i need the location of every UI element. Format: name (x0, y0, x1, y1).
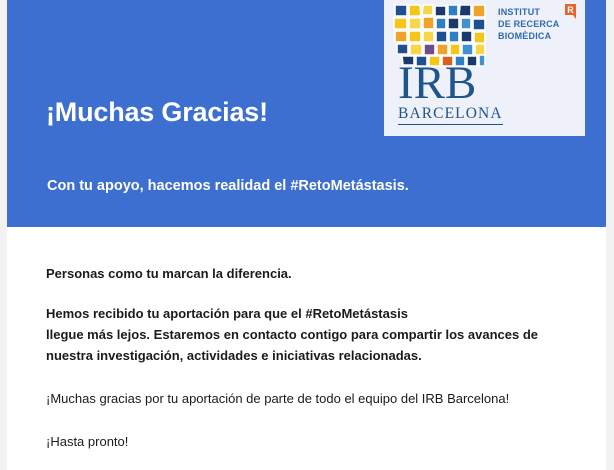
institute-name: INSTITUT DE RECERCA BIOMÈDICA (498, 6, 560, 42)
svg-text:R: R (567, 5, 574, 15)
institute-line-2: DE RECERCA (498, 18, 560, 30)
body-paragraph: llegue más lejos. Estaremos en contacto … (46, 324, 576, 345)
body-paragraph: Personas como tu marcan la diferencia. (46, 263, 576, 284)
r-registered-mark-icon: R (565, 4, 577, 19)
logo-wordmark: IRB BARCELONA (398, 62, 522, 125)
body-paragraph: Hemos recibido tu aportación para que el… (46, 303, 576, 324)
irb-barcelona-logo: INSTITUT DE RECERCA BIOMÈDICA R IRB BARC… (384, 0, 585, 136)
message-body: Personas como tu marcan la diferencia. H… (46, 263, 576, 452)
hero-banner: ¡Muchas Gracias! Con tu apoyo, hacemos r… (7, 0, 606, 227)
page-title: ¡Muchas Gracias! (46, 98, 268, 128)
body-paragraph: nuestra investigación, actividades e ini… (46, 345, 576, 366)
email-content-card: ¡Muchas Gracias! Con tu apoyo, hacemos r… (7, 0, 606, 470)
logo-city-text: BARCELONA (398, 105, 503, 125)
body-paragraph: ¡Hasta pronto! (46, 431, 576, 452)
hero-subtitle: Con tu apoyo, hacemos realidad el #RetoM… (47, 178, 409, 195)
institute-line-1: INSTITUT (498, 6, 560, 18)
institute-line-3: BIOMÈDICA (498, 30, 560, 42)
logo-irb-text: IRB (398, 62, 522, 105)
body-paragraph: ¡Muchas gracias por tu aportación de par… (46, 388, 576, 409)
email-message: ¡Muchas Gracias! Con tu apoyo, hacemos r… (0, 0, 614, 470)
